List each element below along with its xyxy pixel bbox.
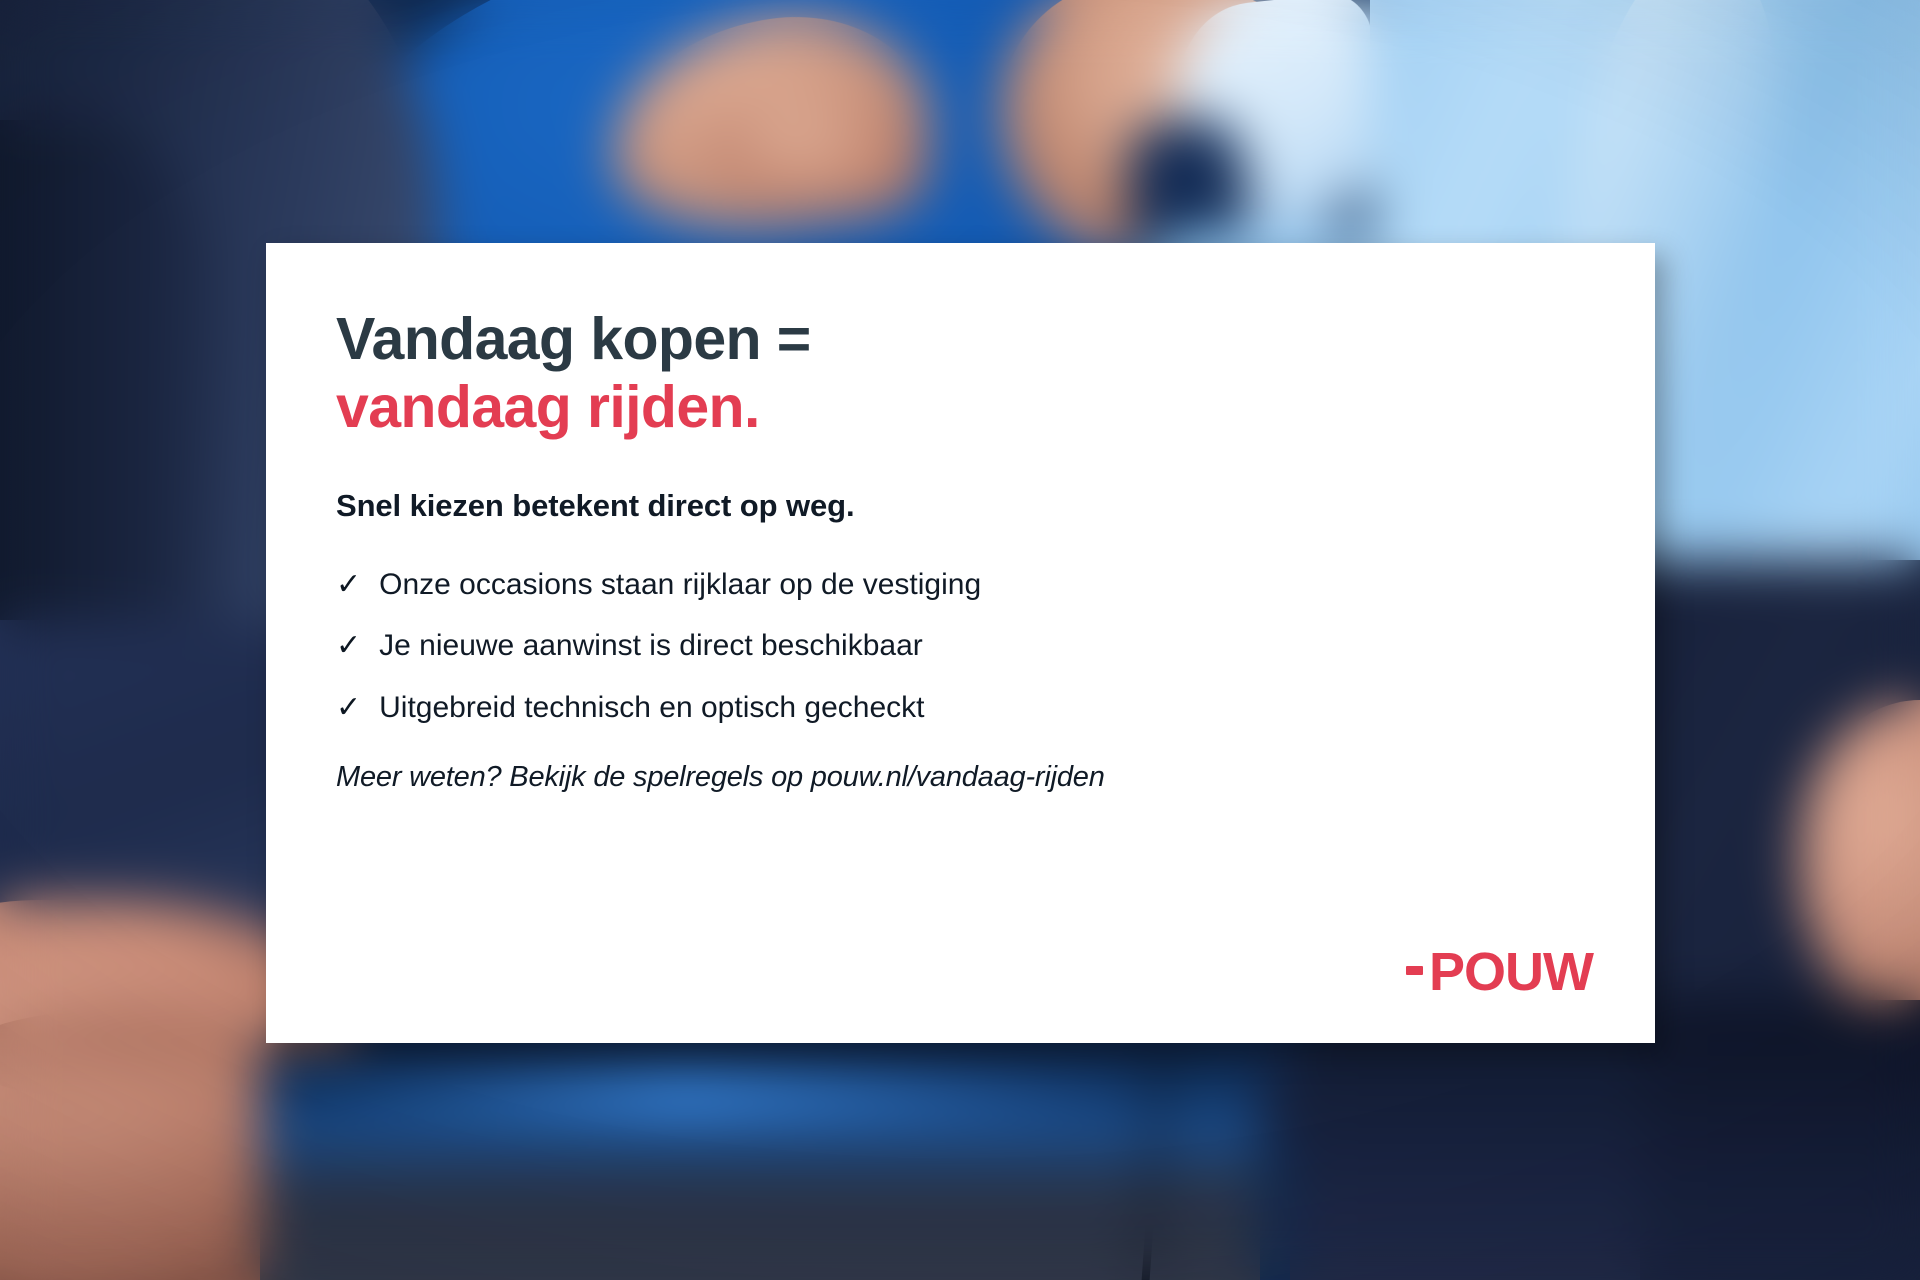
subheading: Snel kiezen betekent direct op weg. [336, 488, 1585, 524]
list-item-label: Uitgebreid technisch en optisch gecheckt [379, 691, 924, 725]
pouw-logo: POUW [1406, 945, 1593, 999]
page-title: Vandaag kopen = vandaag rijden. [336, 305, 1585, 442]
footnote-text: Meer weten? Bekijk de spelregels op pouw… [336, 761, 1585, 794]
benefits-list: ✓ Onze occasions staan rijklaar op de ve… [336, 568, 1585, 725]
promo-card: Vandaag kopen = vandaag rijden. Snel kie… [266, 243, 1655, 1043]
list-item: ✓ Je nieuwe aanwinst is direct beschikba… [336, 629, 1585, 663]
list-item-label: Je nieuwe aanwinst is direct beschikbaar [379, 629, 923, 663]
promo-banner: Vandaag kopen = vandaag rijden. Snel kie… [0, 0, 1920, 1280]
list-item-label: Onze occasions staan rijklaar op de vest… [379, 568, 981, 602]
headline-line-1: Vandaag kopen = [336, 306, 811, 372]
logo-wordmark: POUW [1429, 945, 1593, 999]
headline-line-2: vandaag rijden. [336, 373, 1585, 441]
logo-dot-icon [1406, 966, 1423, 975]
check-icon: ✓ [336, 631, 361, 661]
check-icon: ✓ [336, 693, 361, 723]
check-icon: ✓ [336, 570, 361, 600]
list-item: ✓ Onze occasions staan rijklaar op de ve… [336, 568, 1585, 602]
list-item: ✓ Uitgebreid technisch en optisch gechec… [336, 691, 1585, 725]
